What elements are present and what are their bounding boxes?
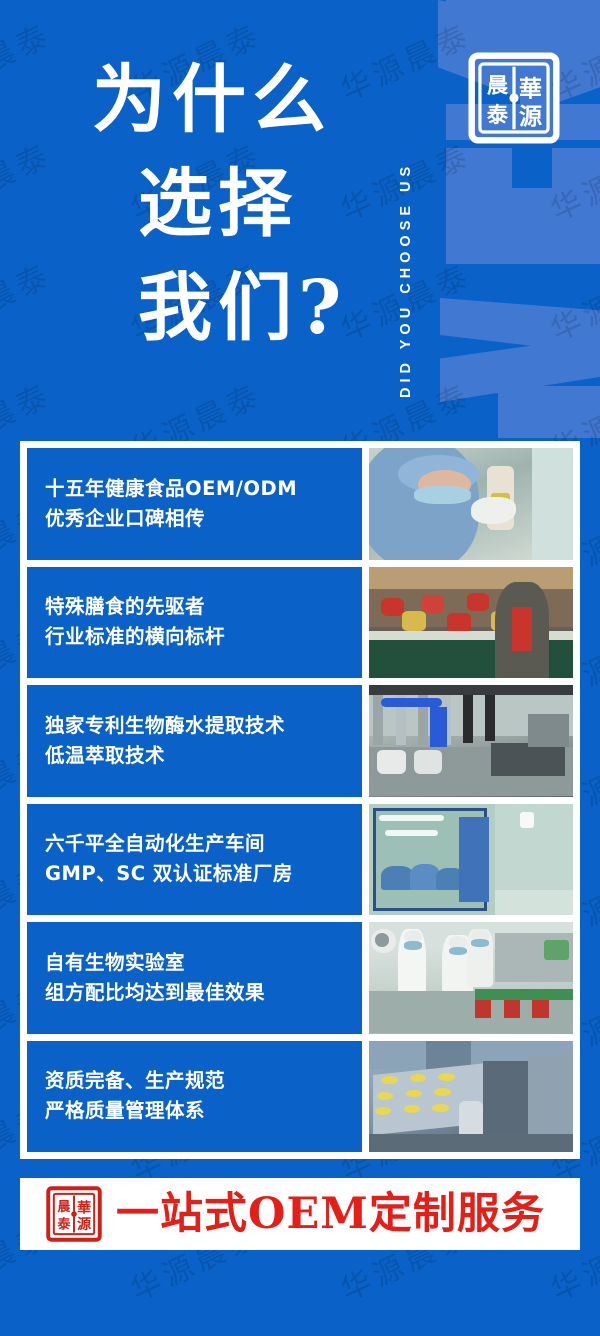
feature-photo-3	[369, 685, 573, 797]
seal-logo-banner: 華 源 晨 泰	[46, 1186, 102, 1242]
svg-text:晨: 晨	[57, 1200, 70, 1215]
feature-5-line-2: 组方配比均达到最佳效果	[45, 978, 344, 1008]
feature-photo-5	[369, 922, 573, 1034]
feature-text-4: 六千平全自动化生产车间 GMP、SC 双认证标准厂房	[27, 804, 362, 916]
banner-title: 一站式OEM定制服务	[116, 1193, 545, 1236]
vertical-subtitle: DID YOU CHOOSE US	[398, 28, 424, 398]
feature-3-line-1: 独家专利生物酶水提取技术	[45, 711, 344, 741]
feature-6-line-1: 资质完备、生产规范	[45, 1066, 344, 1096]
poster-header: 为什么 选择 我们? DID YOU CHOOSE US 華 源 晨 泰	[0, 0, 600, 435]
feature-photo-2	[369, 567, 573, 679]
feature-2-line-1: 特殊膳食的先驱者	[45, 592, 344, 622]
feature-text-3: 独家专利生物酶水提取技术 低温萃取技术	[27, 685, 362, 797]
watermark-text: 华源晨泰	[74, 1281, 315, 1336]
svg-text:華: 華	[519, 76, 542, 103]
feature-list: 十五年健康食品OEM/ODM 优秀企业口碑相传 特殊膳食的先驱者	[20, 441, 580, 1159]
page-title-line-1: 为什么	[92, 48, 347, 152]
feature-row[interactable]: 独家专利生物酶水提取技术 低温萃取技术	[27, 685, 573, 797]
feature-photo-1	[369, 448, 573, 560]
feature-row[interactable]: 特殊膳食的先驱者 行业标准的横向标杆	[27, 567, 573, 679]
feature-photo-4	[369, 804, 573, 916]
feature-3-line-2: 低温萃取技术	[45, 741, 344, 771]
page-title: 为什么 选择 我们?	[92, 48, 347, 360]
feature-5-line-1: 自有生物实验室	[45, 948, 344, 978]
feature-row[interactable]: 自有生物实验室 组方配比均达到最佳效果	[27, 922, 573, 1034]
feature-text-5: 自有生物实验室 组方配比均达到最佳效果	[27, 922, 362, 1034]
feature-photo-6	[369, 1041, 573, 1153]
feature-text-1: 十五年健康食品OEM/ODM 优秀企业口碑相传	[27, 448, 362, 560]
feature-text-6: 资质完备、生产规范 严格质量管理体系	[27, 1041, 362, 1153]
feature-4-line-2: GMP、SC 双认证标准厂房	[45, 859, 344, 889]
feature-2-line-2: 行业标准的横向标杆	[45, 622, 344, 652]
svg-text:華: 華	[77, 1199, 91, 1216]
feature-1-line-1: 十五年健康食品OEM/ODM	[45, 474, 344, 504]
seal-logo-header: 華 源 晨 泰	[468, 52, 560, 144]
poster-root: 华源晨泰华源晨泰华源晨泰华源晨泰华源晨泰华源晨泰华源晨泰华源晨泰华源晨泰华源晨泰…	[0, 0, 600, 1336]
feature-row[interactable]: 十五年健康食品OEM/ODM 优秀企业口碑相传	[27, 448, 573, 560]
svg-text:泰: 泰	[56, 1217, 71, 1233]
page-title-line-2: 选择	[138, 152, 347, 256]
feature-1-line-2: 优秀企业口碑相传	[45, 504, 344, 534]
feature-row[interactable]: 六千平全自动化生产车间 GMP、SC 双认证标准厂房	[27, 804, 573, 916]
page-title-line-3: 我们?	[138, 256, 347, 360]
watermark-text: 华源晨泰	[494, 1281, 600, 1336]
feature-row[interactable]: 资质完备、生产规范 严格质量管理体系	[27, 1041, 573, 1153]
feature-6-line-2: 严格质量管理体系	[45, 1096, 344, 1126]
feature-4-line-1: 六千平全自动化生产车间	[45, 829, 344, 859]
bottom-banner: 華 源 晨 泰 一站式OEM定制服务	[20, 1178, 580, 1250]
watermark-text: 华源晨泰	[284, 1281, 525, 1336]
svg-text:源: 源	[77, 1216, 91, 1233]
svg-text:泰: 泰	[487, 102, 509, 127]
svg-text:晨: 晨	[487, 72, 509, 97]
svg-text:源: 源	[519, 103, 542, 130]
feature-text-2: 特殊膳食的先驱者 行业标准的横向标杆	[27, 567, 362, 679]
watermark-text: 华源晨泰	[0, 1281, 106, 1336]
